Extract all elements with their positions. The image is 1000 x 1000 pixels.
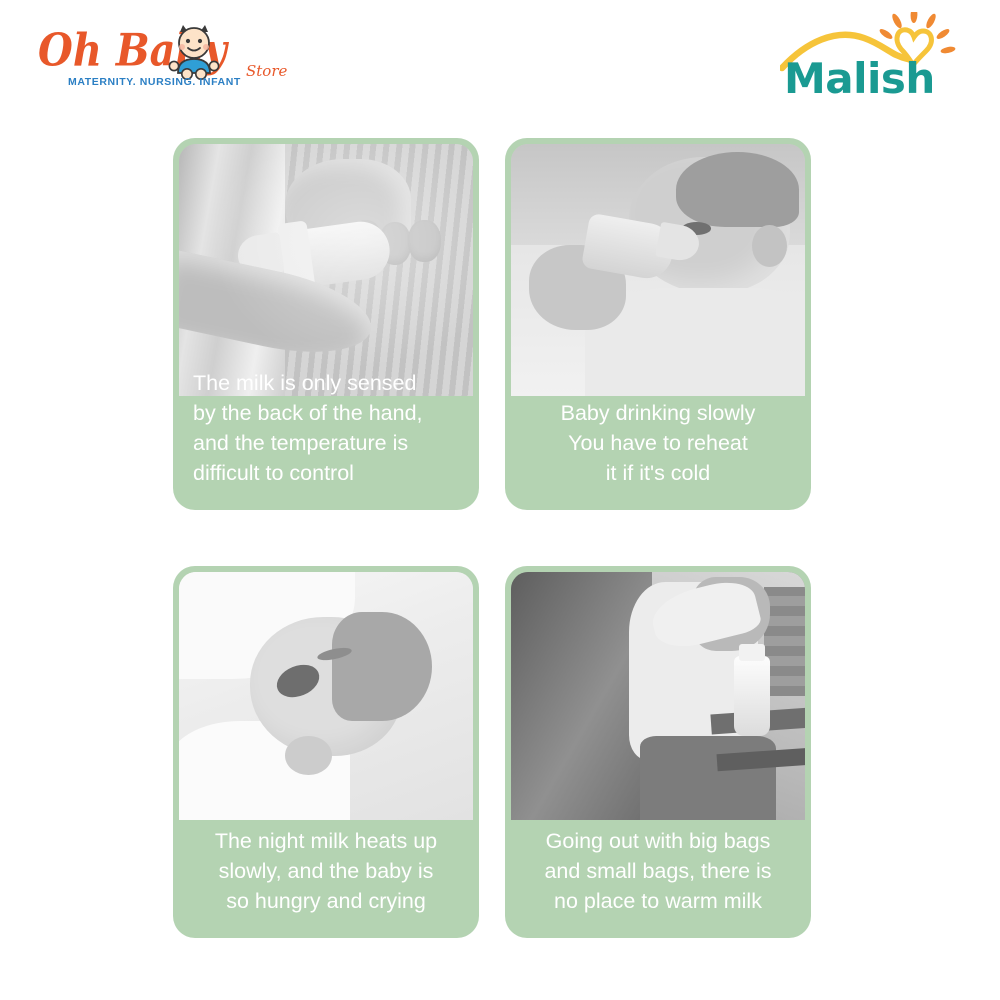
parent-and-child-outdoors-with-bottle-photo [511,572,805,820]
card-drinking-slowly[interactable]: Baby drinking slowly You have to reheat … [505,138,811,510]
card-going-out[interactable]: Going out with big bags and small bags, … [505,566,811,938]
benefit-cards-grid: The milk is only sensed by the back of t… [173,138,821,938]
oh-baby-store-word: Store [246,62,287,80]
oh-baby-store-logo[interactable]: Oh Baby Store MATERNITY. NURSING. INFANT [38,20,298,100]
crying-baby-in-bed-photo [179,572,473,820]
oh-baby-tagline: MATERNITY. NURSING. INFANT [68,76,241,88]
page-header: Oh Baby Store MATERNITY. NURSING. INFANT [0,0,1000,120]
malish-wordmark: Malish [784,54,935,103]
baby-face-icon [166,23,222,81]
card-milk-sensed[interactable]: The milk is only sensed by the back of t… [173,138,479,510]
card-night-milk[interactable]: The night milk heats up slowly, and the … [173,566,479,938]
card-caption: Baby drinking slowly You have to reheat … [511,388,805,504]
card-caption: The night milk heats up slowly, and the … [179,816,473,932]
malish-logo[interactable]: Malish [780,12,970,104]
card-caption: Going out with big bags and small bags, … [511,816,805,932]
baby-drinking-bottle-photo [511,144,805,396]
card-caption: The milk is only sensed by the back of t… [179,358,473,504]
